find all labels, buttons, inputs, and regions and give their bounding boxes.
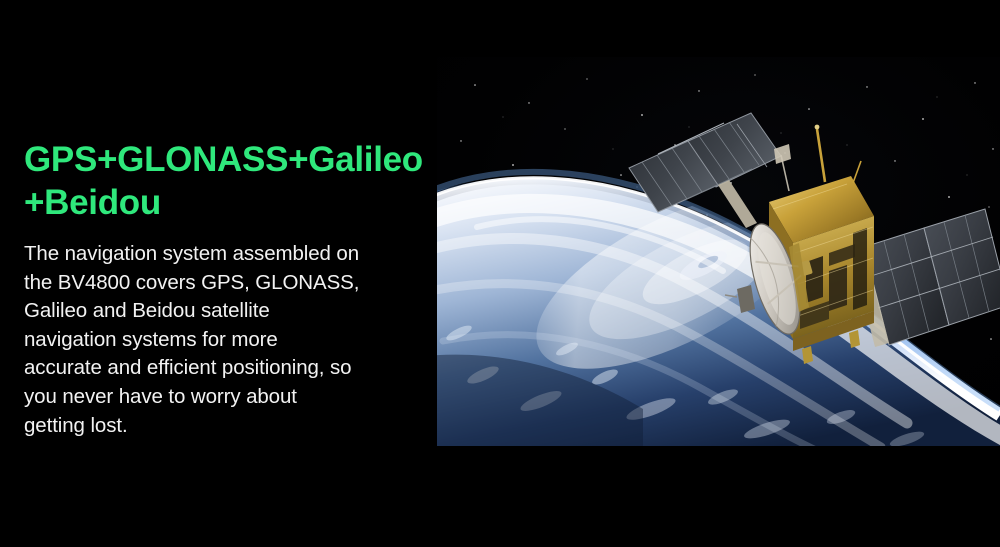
text-column: GPS+GLONASS+Galileo +Beidou The navigati…	[24, 138, 416, 440]
feature-banner: GPS+GLONASS+Galileo +Beidou The navigati…	[0, 0, 1000, 547]
satellite-earth-photo: Navigation satellite with gold body, sil…	[437, 57, 1000, 446]
page-title: GPS+GLONASS+Galileo +Beidou	[24, 138, 416, 224]
description-paragraph: The navigation system assembled on the B…	[24, 240, 416, 440]
space-scene-illustration	[437, 57, 1000, 446]
